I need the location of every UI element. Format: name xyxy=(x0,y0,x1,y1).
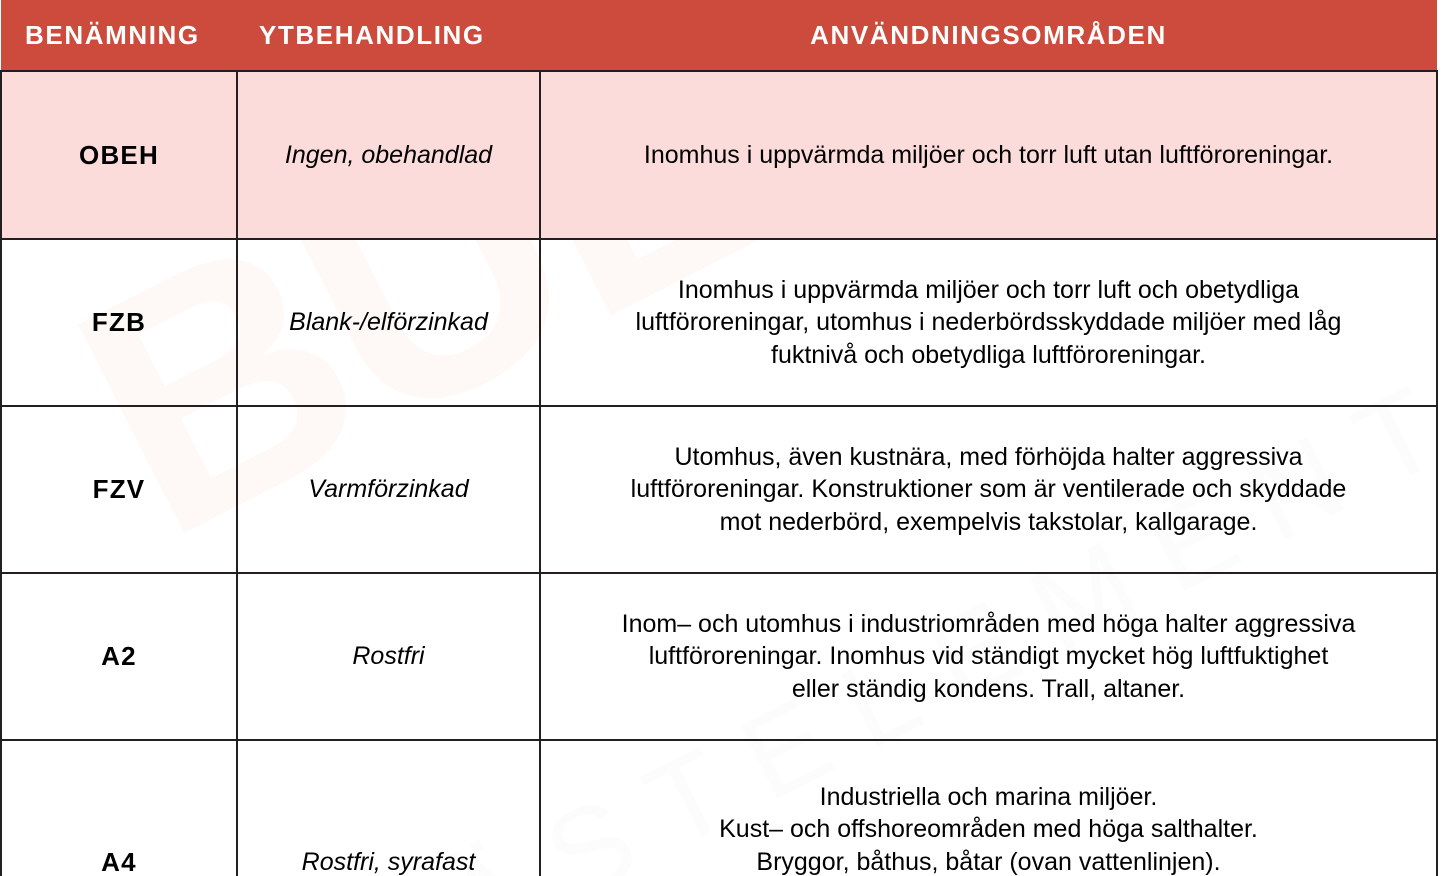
usage-line: Inomhus i uppvärmda miljöer och torr luf… xyxy=(559,139,1418,172)
usage-line: eller ständig kondens. Trall, altaner. xyxy=(559,673,1418,706)
table-row: FZB Blank-/elförzinkad Inomhus i uppvärm… xyxy=(1,239,1437,406)
usage-line: Kust– och offshoreområden med höga salth… xyxy=(559,813,1418,846)
cell-code: FZV xyxy=(1,406,237,573)
usage-line: Inom– och utomhus i industriområden med … xyxy=(559,608,1418,641)
surface-treatment-table-container: BENÄMNING YTBEHANDLING ANVÄNDNINGSOMRÅDE… xyxy=(0,0,1442,876)
column-header-ytbehandling: YTBEHANDLING xyxy=(237,0,540,71)
table-row: OBEH Ingen, obehandlad Inomhus i uppvärm… xyxy=(1,71,1437,239)
cell-code: OBEH xyxy=(1,71,237,239)
cell-usage: Inomhus i uppvärmda miljöer och torr luf… xyxy=(540,71,1437,239)
usage-line: luftföroreningar, utomhus i nederbördssk… xyxy=(559,306,1418,339)
table-row: A4 Rostfri, syrafast Industriella och ma… xyxy=(1,740,1437,876)
cell-surface: Blank-/elförzinkad xyxy=(237,239,540,406)
cell-usage: Utomhus, även kustnära, med förhöjda hal… xyxy=(540,406,1437,573)
usage-line: fuktnivå och obetydliga luftföroreningar… xyxy=(559,339,1418,372)
surface-treatment-table: BENÄMNING YTBEHANDLING ANVÄNDNINGSOMRÅDE… xyxy=(0,0,1438,876)
usage-line: Bryggor, båthus, båtar (ovan vattenlinje… xyxy=(559,846,1418,876)
table-row: FZV Varmförzinkad Utomhus, även kustnära… xyxy=(1,406,1437,573)
table-header-row: BENÄMNING YTBEHANDLING ANVÄNDNINGSOMRÅDE… xyxy=(1,0,1437,71)
cell-usage: Industriella och marina miljöer. Kust– o… xyxy=(540,740,1437,876)
cell-usage: Inom– och utomhus i industriområden med … xyxy=(540,573,1437,740)
table-header: BENÄMNING YTBEHANDLING ANVÄNDNINGSOMRÅDE… xyxy=(1,0,1437,71)
cell-surface: Rostfri, syrafast xyxy=(237,740,540,876)
cell-surface: Varmförzinkad xyxy=(237,406,540,573)
usage-line: Industriella och marina miljöer. xyxy=(559,781,1418,814)
usage-line: luftföroreningar. Konstruktioner som är … xyxy=(559,473,1418,506)
table-row: A2 Rostfri Inom– och utomhus i industrio… xyxy=(1,573,1437,740)
usage-line: Utomhus, även kustnära, med förhöjda hal… xyxy=(559,441,1418,474)
usage-line: mot nederbörd, exempelvis takstolar, kal… xyxy=(559,506,1418,539)
cell-code: FZB xyxy=(1,239,237,406)
usage-line: Inomhus i uppvärmda miljöer och torr luf… xyxy=(559,274,1418,307)
usage-line: luftföroreningar. Inomhus vid ständigt m… xyxy=(559,640,1418,673)
column-header-benamning: BENÄMNING xyxy=(1,0,237,71)
cell-surface: Rostfri xyxy=(237,573,540,740)
cell-surface: Ingen, obehandlad xyxy=(237,71,540,239)
cell-code: A2 xyxy=(1,573,237,740)
cell-code: A4 xyxy=(1,740,237,876)
table-body: OBEH Ingen, obehandlad Inomhus i uppvärm… xyxy=(1,71,1437,876)
cell-usage: Inomhus i uppvärmda miljöer och torr luf… xyxy=(540,239,1437,406)
column-header-anvandningsomraden: ANVÄNDNINGSOMRÅDEN xyxy=(540,0,1437,71)
screenshot-root: BULTAB FÄSTELEMENT BENÄMNING YTBEHANDLIN… xyxy=(0,0,1442,876)
